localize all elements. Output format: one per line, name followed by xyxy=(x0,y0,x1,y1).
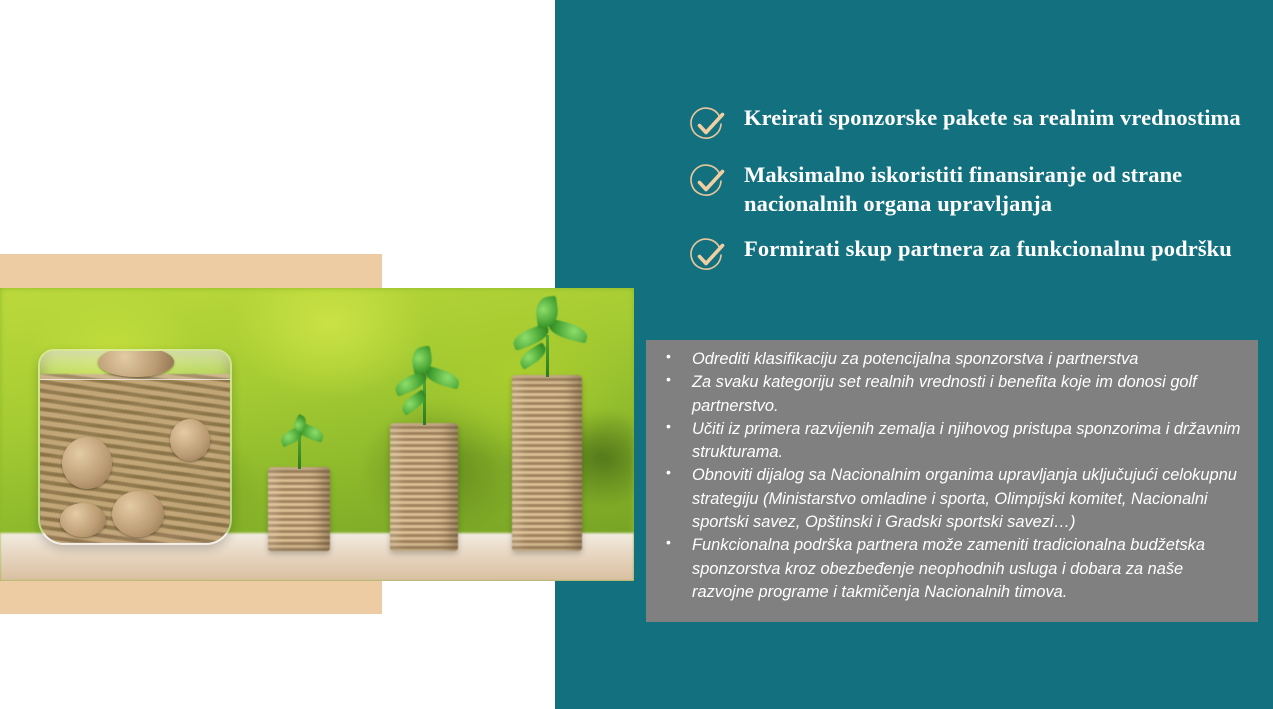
checklist-item: Formirati skup partnera za funkcionalnu … xyxy=(688,235,1248,276)
slide-canvas: Kreirati sponzorske pakete sa realnim vr… xyxy=(0,0,1273,709)
check-circle-icon xyxy=(688,105,728,145)
photo-coin-stack-small xyxy=(268,467,330,551)
detail-bullet-item: Učiti iz primera razvijenih zemalja i nj… xyxy=(646,418,1248,465)
photo-plant-stem xyxy=(546,335,549,377)
checklist-item-label: Formirati skup partnera za funkcionalnu … xyxy=(744,235,1232,264)
detail-bullet-item: Za svaku kategoriju set realnih vrednost… xyxy=(646,371,1248,418)
check-circle-icon xyxy=(688,162,728,202)
check-circle-icon xyxy=(688,236,728,276)
photo-coin-stack-large xyxy=(512,375,582,551)
detail-box: Odrediti klasifikaciju za potencijalna s… xyxy=(646,340,1258,622)
photo-plant-stem xyxy=(298,435,301,469)
detail-bullet-item: Obnoviti dijalog sa Nacionalnim organima… xyxy=(646,464,1248,534)
checklist: Kreirati sponzorske pakete sa realnim vr… xyxy=(688,104,1248,292)
photo-coin-jar xyxy=(38,349,232,545)
checklist-item-label: Maksimalno iskoristiti finansiranje od s… xyxy=(744,161,1248,219)
photo-coin xyxy=(60,503,106,537)
detail-bullet-list: Odrediti klasifikaciju za potencijalna s… xyxy=(646,348,1248,604)
detail-bullet-item: Odrediti klasifikaciju za potencijalna s… xyxy=(646,348,1248,371)
coins-jar-and-growing-coin-stacks-photo xyxy=(0,288,634,581)
checklist-item: Maksimalno iskoristiti finansiranje od s… xyxy=(688,161,1248,219)
photo-coin xyxy=(62,437,112,489)
photo-plant-stem xyxy=(423,379,426,425)
photo-coin xyxy=(170,419,210,461)
checklist-item-label: Kreirati sponzorske pakete sa realnim vr… xyxy=(744,104,1241,133)
checklist-item: Kreirati sponzorske pakete sa realnim vr… xyxy=(688,104,1248,145)
detail-bullet-item: Funkcionalna podrška partnera može zamen… xyxy=(646,534,1248,604)
photo-coin-stack-medium xyxy=(390,423,458,551)
photo-coin xyxy=(112,491,164,537)
